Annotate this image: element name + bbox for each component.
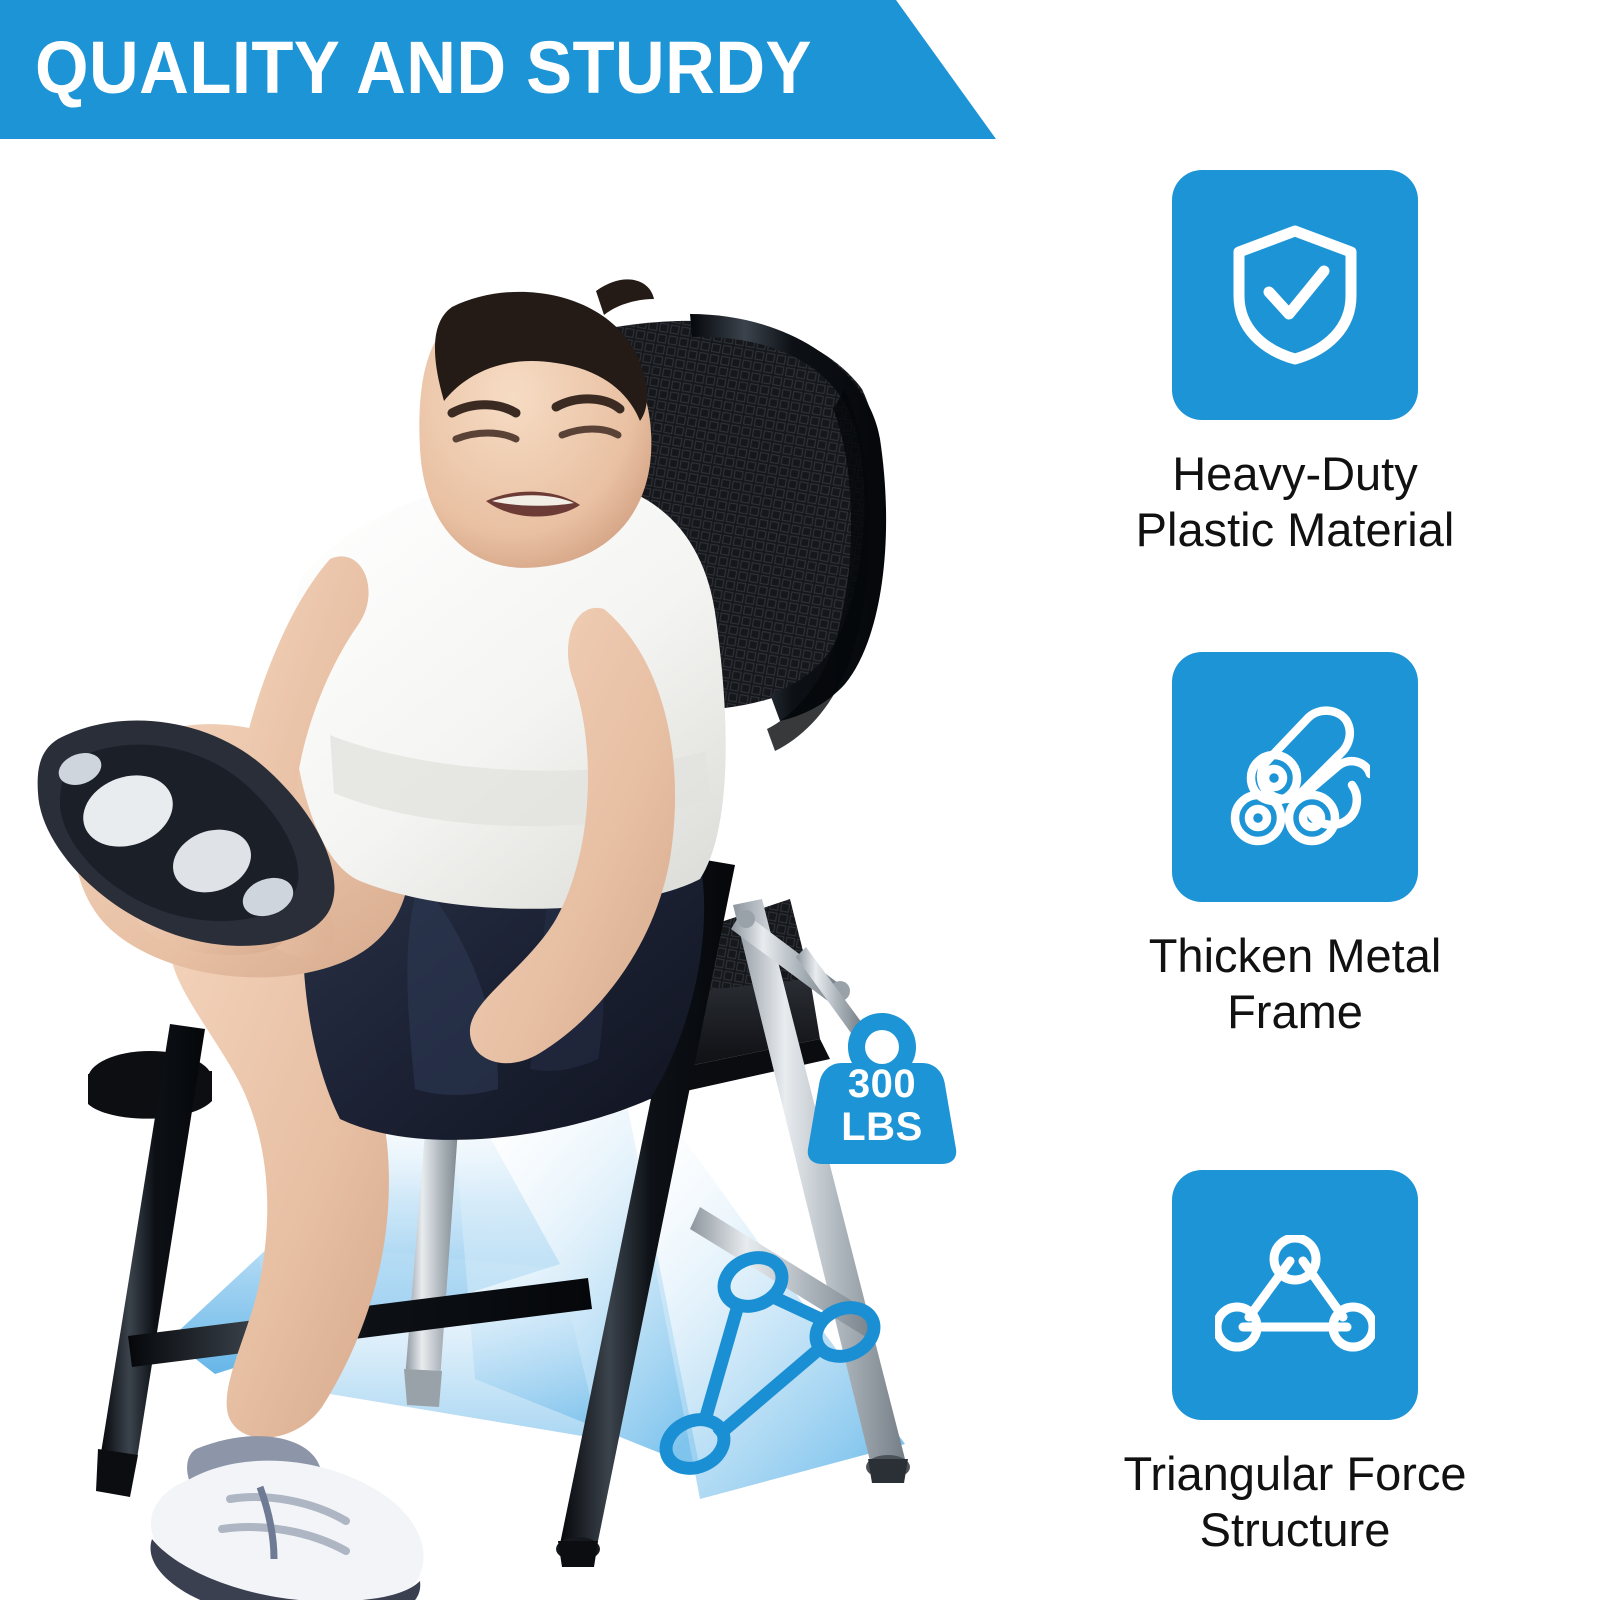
- infographic-page: QUALITY AND STURDY: [0, 0, 1600, 1600]
- weight-capacity-badge: 300 LBS: [806, 1011, 958, 1166]
- triangle-nodes-icon-tile: [1172, 1170, 1418, 1420]
- feature-item-heavy-duty-plastic-material: Heavy-Duty Plastic Material: [1060, 170, 1530, 558]
- feature-label: Thicken Metal Frame: [1060, 928, 1530, 1040]
- feature-item-thicken-metal-frame: Thicken Metal Frame: [1060, 652, 1530, 1040]
- page-title: QUALITY AND STURDY: [35, 18, 812, 118]
- stacked-metal-tubes-icon-tile: [1172, 652, 1418, 902]
- stacked-metal-tubes-icon: [1220, 702, 1370, 852]
- standing-sneaker: [151, 1436, 424, 1600]
- triangle-nodes-icon: [1215, 1235, 1375, 1355]
- weight-badge-text: 300 LBS: [806, 1063, 958, 1149]
- shield-check-icon: [1229, 224, 1361, 366]
- product-photo: [0, 139, 1070, 1600]
- feature-label: Triangular Force Structure: [1060, 1446, 1530, 1558]
- feature-list: Heavy-Duty Plastic Material: [1060, 170, 1530, 1570]
- shield-check-icon-tile: [1172, 170, 1418, 420]
- feature-item-triangular-force-structure: Triangular Force Structure: [1060, 1170, 1530, 1558]
- header-banner: QUALITY AND STURDY: [0, 0, 1000, 139]
- feature-label: Heavy-Duty Plastic Material: [1060, 446, 1530, 558]
